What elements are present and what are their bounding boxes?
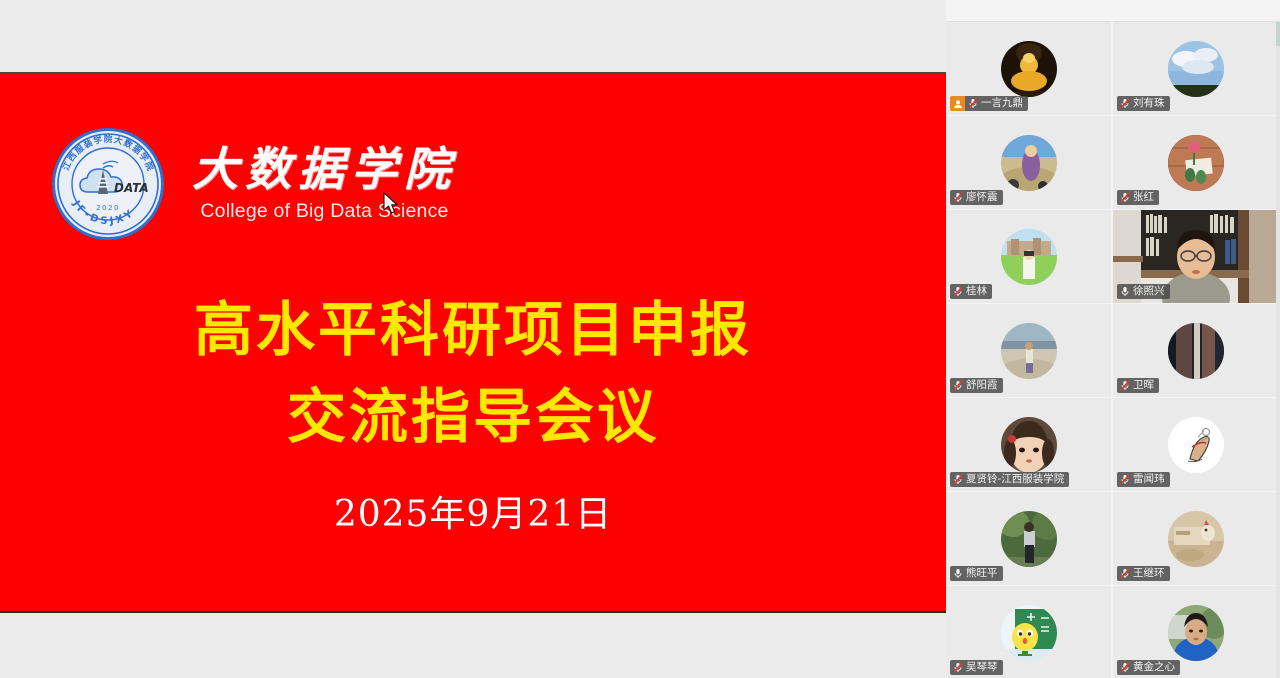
participant-name: 桂林 — [966, 284, 987, 299]
slide-left-edge — [0, 74, 2, 611]
participant-name: 夏贤铃-江西服装学院 — [966, 472, 1064, 487]
participant-name-badge: 廖怀震 — [950, 190, 1003, 205]
man-in-blue-shirt-avatar — [1168, 605, 1224, 661]
brand-name-cn: 大数据学院 — [192, 145, 457, 193]
participant-tile[interactable]: 舒阳霞 — [946, 304, 1111, 397]
slide-title-line-1: 高水平科研项目申报 — [0, 286, 946, 373]
shared-screen-area[interactable]: DATA 江西服装学院大数据学院 JF-DSJXY 2020 大数据学院 Col… — [0, 0, 946, 678]
participant-name-chip: 王继环 — [1117, 566, 1170, 581]
mic-muted-icon — [1120, 98, 1130, 109]
participant-tile-grid: 一言九鼎刘有珠廖怀震张红桂林徐照兴舒阳霞卫晖夏贤铃-江西服装学院雷闻玮熊旺平王继… — [946, 22, 1278, 678]
participant-name-badge: 卫晖 — [1117, 378, 1159, 393]
mouse-pointer-icon — [383, 192, 401, 216]
participant-name: 熊旺平 — [966, 566, 998, 581]
participant-gallery[interactable]: 一言九鼎刘有珠廖怀震张红桂林徐照兴舒阳霞卫晖夏贤铃-江西服装学院雷闻玮熊旺平王继… — [946, 0, 1280, 678]
beige-interior-avatar — [1168, 511, 1224, 567]
mic-muted-icon — [1120, 380, 1130, 391]
college-seal-logo: DATA 江西服装学院大数据学院 JF-DSJXY 2020 — [48, 124, 168, 244]
participant-name: 舒阳霞 — [966, 378, 998, 393]
slide-title-line-2: 交流指导会议 — [0, 373, 946, 460]
presentation-slide[interactable]: DATA 江西服装学院大数据学院 JF-DSJXY 2020 大数据学院 Col… — [0, 74, 946, 611]
participant-name-chip: 廖怀震 — [950, 190, 1003, 205]
participant-name-chip: 卫晖 — [1117, 378, 1159, 393]
mic-icon — [953, 568, 963, 579]
participant-name: 黄金之心 — [1133, 660, 1175, 675]
participant-name-badge: 雷闻玮 — [1117, 472, 1170, 487]
participant-name-badge: 熊旺平 — [950, 566, 1003, 581]
person-at-beach-avatar — [1001, 323, 1057, 379]
participant-name-chip: 桂林 — [950, 284, 992, 299]
participant-name-chip: 吴琴琴 — [950, 660, 1003, 675]
share-top-letterbox — [0, 0, 946, 72]
participant-name: 徐照兴 — [1133, 284, 1165, 299]
golden-buddha-statue-avatar — [1001, 41, 1057, 97]
mic-muted-icon — [953, 474, 963, 485]
gallery-header-bar — [946, 0, 1280, 22]
participant-name-chip: 一言九鼎 — [965, 96, 1028, 111]
participant-name-badge: 吴琴琴 — [950, 660, 1003, 675]
meeting-screen: DATA 江西服装学院大数据学院 JF-DSJXY 2020 大数据学院 Col… — [0, 0, 1280, 678]
flowers-on-brick-wall-avatar — [1168, 135, 1224, 191]
person-in-garden-avatar — [1001, 511, 1057, 567]
participant-name-chip: 熊旺平 — [950, 566, 1003, 581]
participant-name-chip: 黄金之心 — [1117, 660, 1180, 675]
mic-muted-icon — [953, 286, 963, 297]
participant-name: 张红 — [1133, 190, 1154, 205]
young-girl-portrait-avatar — [1001, 417, 1057, 473]
brand-name-en: College of Big Data Science — [200, 200, 448, 223]
participant-name: 刘有珠 — [1133, 96, 1165, 111]
participant-tile[interactable]: 王继环 — [1113, 492, 1278, 585]
participant-tile[interactable]: 徐照兴 — [1113, 210, 1278, 303]
participant-name-badge: 王继环 — [1117, 566, 1170, 581]
dark-texture-avatar — [1168, 323, 1224, 379]
mic-muted-icon — [953, 192, 963, 203]
participant-name-badge: 徐照兴 — [1117, 284, 1170, 299]
participant-tile[interactable]: 桂林 — [946, 210, 1111, 303]
slide-title-block: 高水平科研项目申报 交流指导会议 2025年9月21日 — [0, 286, 946, 537]
participant-name-chip: 夏贤铃-江西服装学院 — [950, 472, 1069, 487]
participant-tile[interactable]: 卫晖 — [1113, 304, 1278, 397]
participant-name-badge: 刘有珠 — [1117, 96, 1170, 111]
mic-muted-icon — [953, 380, 963, 391]
participant-tile[interactable]: 张红 — [1113, 116, 1278, 209]
participant-tile[interactable]: 黄金之心 — [1113, 586, 1278, 678]
participant-name: 吴琴琴 — [966, 660, 998, 675]
participant-name: 廖怀震 — [966, 190, 998, 205]
participant-tile[interactable]: 熊旺平 — [946, 492, 1111, 585]
participant-name: 王继环 — [1133, 566, 1165, 581]
participant-name-chip: 雷闻玮 — [1117, 472, 1170, 487]
share-bottom-letterbox — [0, 613, 946, 678]
participant-tile[interactable]: 廖怀震 — [946, 116, 1111, 209]
participant-tile[interactable]: 夏贤铃-江西服装学院 — [946, 398, 1111, 491]
participant-tile[interactable]: 吴琴琴 — [946, 586, 1111, 678]
mic-muted-icon — [1120, 474, 1130, 485]
participant-name: 雷闻玮 — [1133, 472, 1165, 487]
mic-muted-icon — [1120, 568, 1130, 579]
svg-text:2020: 2020 — [96, 204, 120, 212]
participant-name-badge: 一言九鼎 — [950, 96, 1028, 111]
participant-tile[interactable]: 一言九鼎 — [946, 22, 1111, 115]
blue-sky-clouds-avatar — [1168, 41, 1224, 97]
mic-muted-icon — [1120, 192, 1130, 203]
participant-name-chip: 舒阳霞 — [950, 378, 1003, 393]
svg-text:DATA: DATA — [114, 181, 149, 195]
participant-name-chip: 刘有珠 — [1117, 96, 1170, 111]
host-person-icon — [950, 96, 965, 111]
person-in-field-avatar — [1001, 135, 1057, 191]
white-cartoon-sketch-avatar — [1168, 417, 1224, 473]
slide-date: 2025年9月21日 — [0, 485, 946, 537]
college-brand-header: DATA 江西服装学院大数据学院 JF-DSJXY 2020 大数据学院 Col… — [48, 124, 457, 244]
participant-name-badge: 舒阳霞 — [950, 378, 1003, 393]
participant-name: 卫晖 — [1133, 378, 1154, 393]
participant-name-chip: 徐照兴 — [1117, 284, 1170, 299]
mic-muted-icon — [953, 662, 963, 673]
participant-name-badge: 张红 — [1117, 190, 1159, 205]
mic-muted-icon — [968, 98, 978, 109]
gallery-scrollbar-thumb[interactable] — [1276, 22, 1280, 46]
participant-tile[interactable]: 雷闻玮 — [1113, 398, 1278, 491]
participant-tile[interactable]: 刘有珠 — [1113, 22, 1278, 115]
participant-name-badge: 黄金之心 — [1117, 660, 1180, 675]
participant-name-chip: 张红 — [1117, 190, 1159, 205]
participant-name-badge: 桂林 — [950, 284, 992, 299]
participant-name-badge: 夏贤铃-江西服装学院 — [950, 472, 1069, 487]
gallery-scrollbar[interactable] — [1276, 22, 1280, 678]
yellow-cartoon-chalkboard-avatar — [1001, 605, 1057, 661]
mic-icon — [1120, 286, 1130, 297]
participant-name: 一言九鼎 — [981, 96, 1023, 111]
photographer-on-grass-avatar — [1001, 229, 1057, 285]
mic-muted-icon — [1120, 662, 1130, 673]
